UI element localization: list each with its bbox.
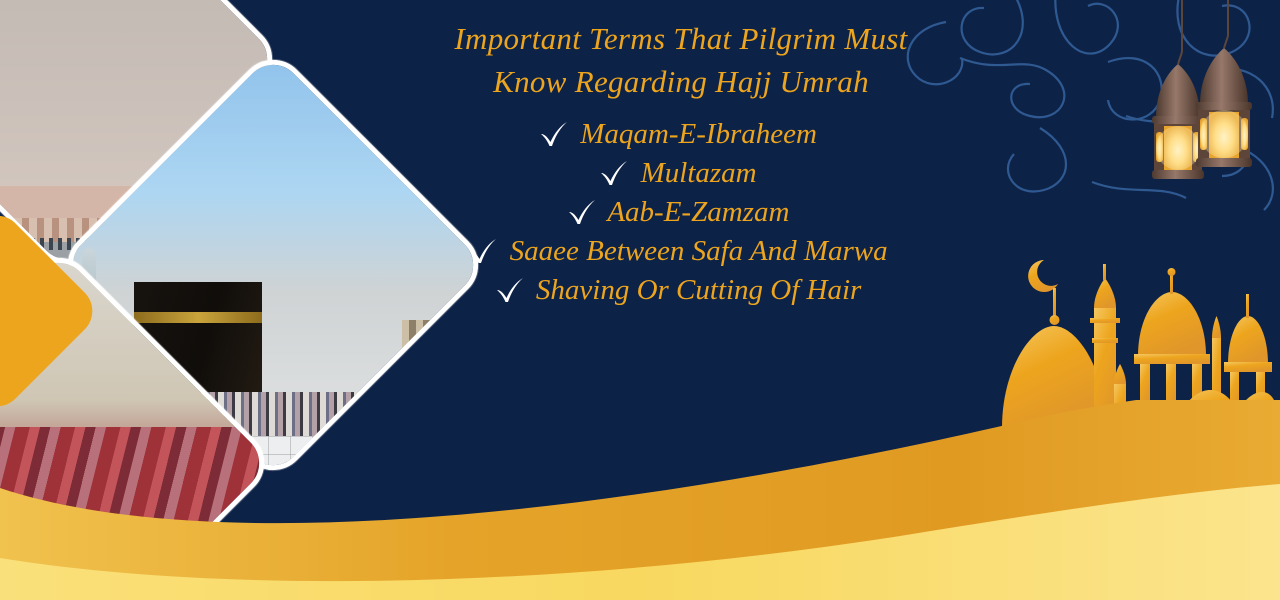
lantern-left-icon [1152,0,1204,179]
list-item-label: Aab-E-Zamzam [607,196,789,228]
check-icon [468,238,498,264]
list-item-label: Multazam [641,157,757,189]
check-icon [539,121,569,147]
page-title: Important Terms That Pilgrim Must Know R… [396,18,966,104]
list-item-label: Saaee Between Safa And Marwa [510,235,888,267]
banner-content: Important Terms That Pilgrim Must Know R… [396,18,966,309]
gold-wave-shape [0,400,1280,600]
headline-line-1: Important Terms That Pilgrim Must [396,18,966,61]
hajj-umrah-banner: Important Terms That Pilgrim Must Know R… [0,0,1280,600]
terms-list: Maqam-E-Ibraheem Multazam Aab-E-Zamzam S… [396,116,966,310]
crescent-moon-icon [1028,260,1058,292]
list-item: Aab-E-Zamzam [396,194,966,231]
list-item-label: Maqam-E-Ibraheem [580,118,817,150]
list-item-label: Shaving Or Cutting Of Hair [536,274,861,306]
hanging-lanterns [1060,0,1280,250]
list-item: Maqam-E-Ibraheem [396,116,966,153]
check-icon [599,160,629,186]
list-item: Shaving Or Cutting Of Hair [396,272,966,309]
list-item: Saaee Between Safa And Marwa [396,233,966,270]
check-icon [495,277,525,303]
list-item: Multazam [396,155,966,192]
check-icon [567,199,597,225]
lantern-right-icon [1196,0,1252,167]
headline-line-2: Know Regarding Hajj Umrah [396,61,966,104]
